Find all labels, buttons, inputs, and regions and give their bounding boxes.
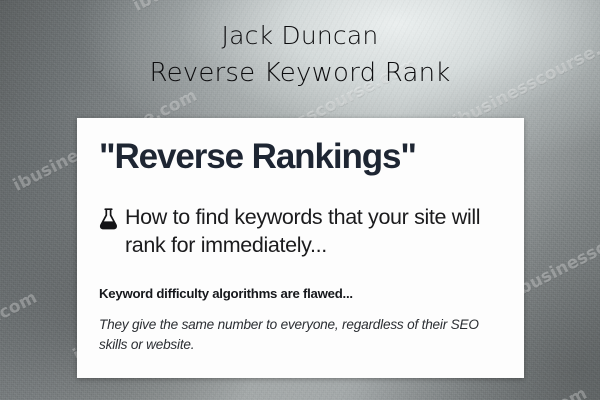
author-name: Jack Duncan bbox=[0, 20, 600, 53]
hero-title-block: Jack Duncan Reverse Keyword Rank bbox=[0, 20, 600, 90]
content-card: "Reverse Rankings" How to find keywords … bbox=[77, 118, 524, 378]
card-subheadline: Keyword difficulty algorithms are flawed… bbox=[99, 286, 502, 301]
flask-icon bbox=[99, 208, 118, 235]
card-lead-text: How to find keywords that your site will… bbox=[125, 204, 502, 260]
card-lead-row: How to find keywords that your site will… bbox=[99, 204, 502, 260]
promo-image: ibusinesscourse.com ibusinesscourse.com … bbox=[0, 0, 600, 400]
product-title: Reverse Keyword Rank bbox=[0, 57, 600, 91]
card-note-text: They give the same number to everyone, r… bbox=[99, 315, 502, 356]
card-headline: "Reverse Rankings" bbox=[99, 137, 502, 176]
